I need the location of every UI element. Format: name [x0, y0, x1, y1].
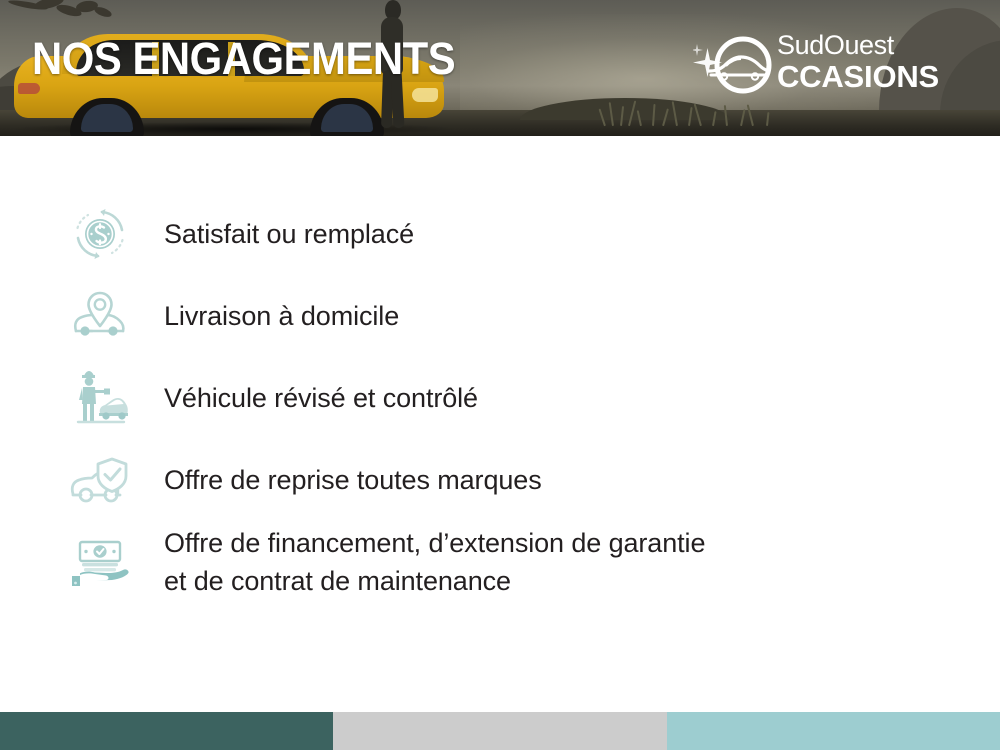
- list-item: Livraison à domicile: [62, 281, 399, 351]
- list-item-label: Livraison à domicile: [164, 297, 399, 335]
- list-item: Offre de financement, d’extension de gar…: [62, 524, 705, 600]
- footer-bar: [0, 712, 1000, 750]
- list-item-label: Véhicule révisé et contrôlé: [164, 379, 478, 417]
- hand-holding-money-icon: [62, 527, 138, 597]
- list-item-label: Offre de reprise toutes marques: [164, 461, 542, 499]
- logo-line-occasions: CCASIONS: [777, 60, 937, 93]
- list-item-label: Offre de financement, d’extension de gar…: [164, 524, 705, 600]
- footer-segment-light-teal: [667, 712, 1000, 750]
- logo-line-sudouest: SudOuest: [777, 30, 937, 60]
- footer-segment-dark-teal: [0, 712, 333, 750]
- list-item-label: Satisfait ou remplacé: [164, 215, 414, 253]
- header-banner: NOS ENGAGEMENTS SudOu: [0, 0, 1000, 136]
- list-item: Satisfait ou remplacé: [62, 199, 414, 269]
- list-item: Offre de reprise toutes marques: [62, 445, 542, 515]
- logo[interactable]: SudOuest CCASIONS: [693, 26, 938, 102]
- sudouest-occasions-logo-mark: [693, 30, 779, 100]
- list-item: Véhicule révisé et contrôlé: [62, 363, 478, 433]
- logo-text: SudOuest CCASIONS: [777, 30, 937, 93]
- slide: NOS ENGAGEMENTS SudOu: [0, 0, 1000, 750]
- mechanic-inspection-icon: [62, 363, 138, 433]
- footer-segment-light-gray: [333, 712, 667, 750]
- home-delivery-car-pin-icon: [62, 281, 138, 351]
- car-shield-check-icon: [62, 445, 138, 515]
- money-back-refund-icon: [62, 199, 138, 269]
- page-title: NOS ENGAGEMENTS: [32, 36, 455, 81]
